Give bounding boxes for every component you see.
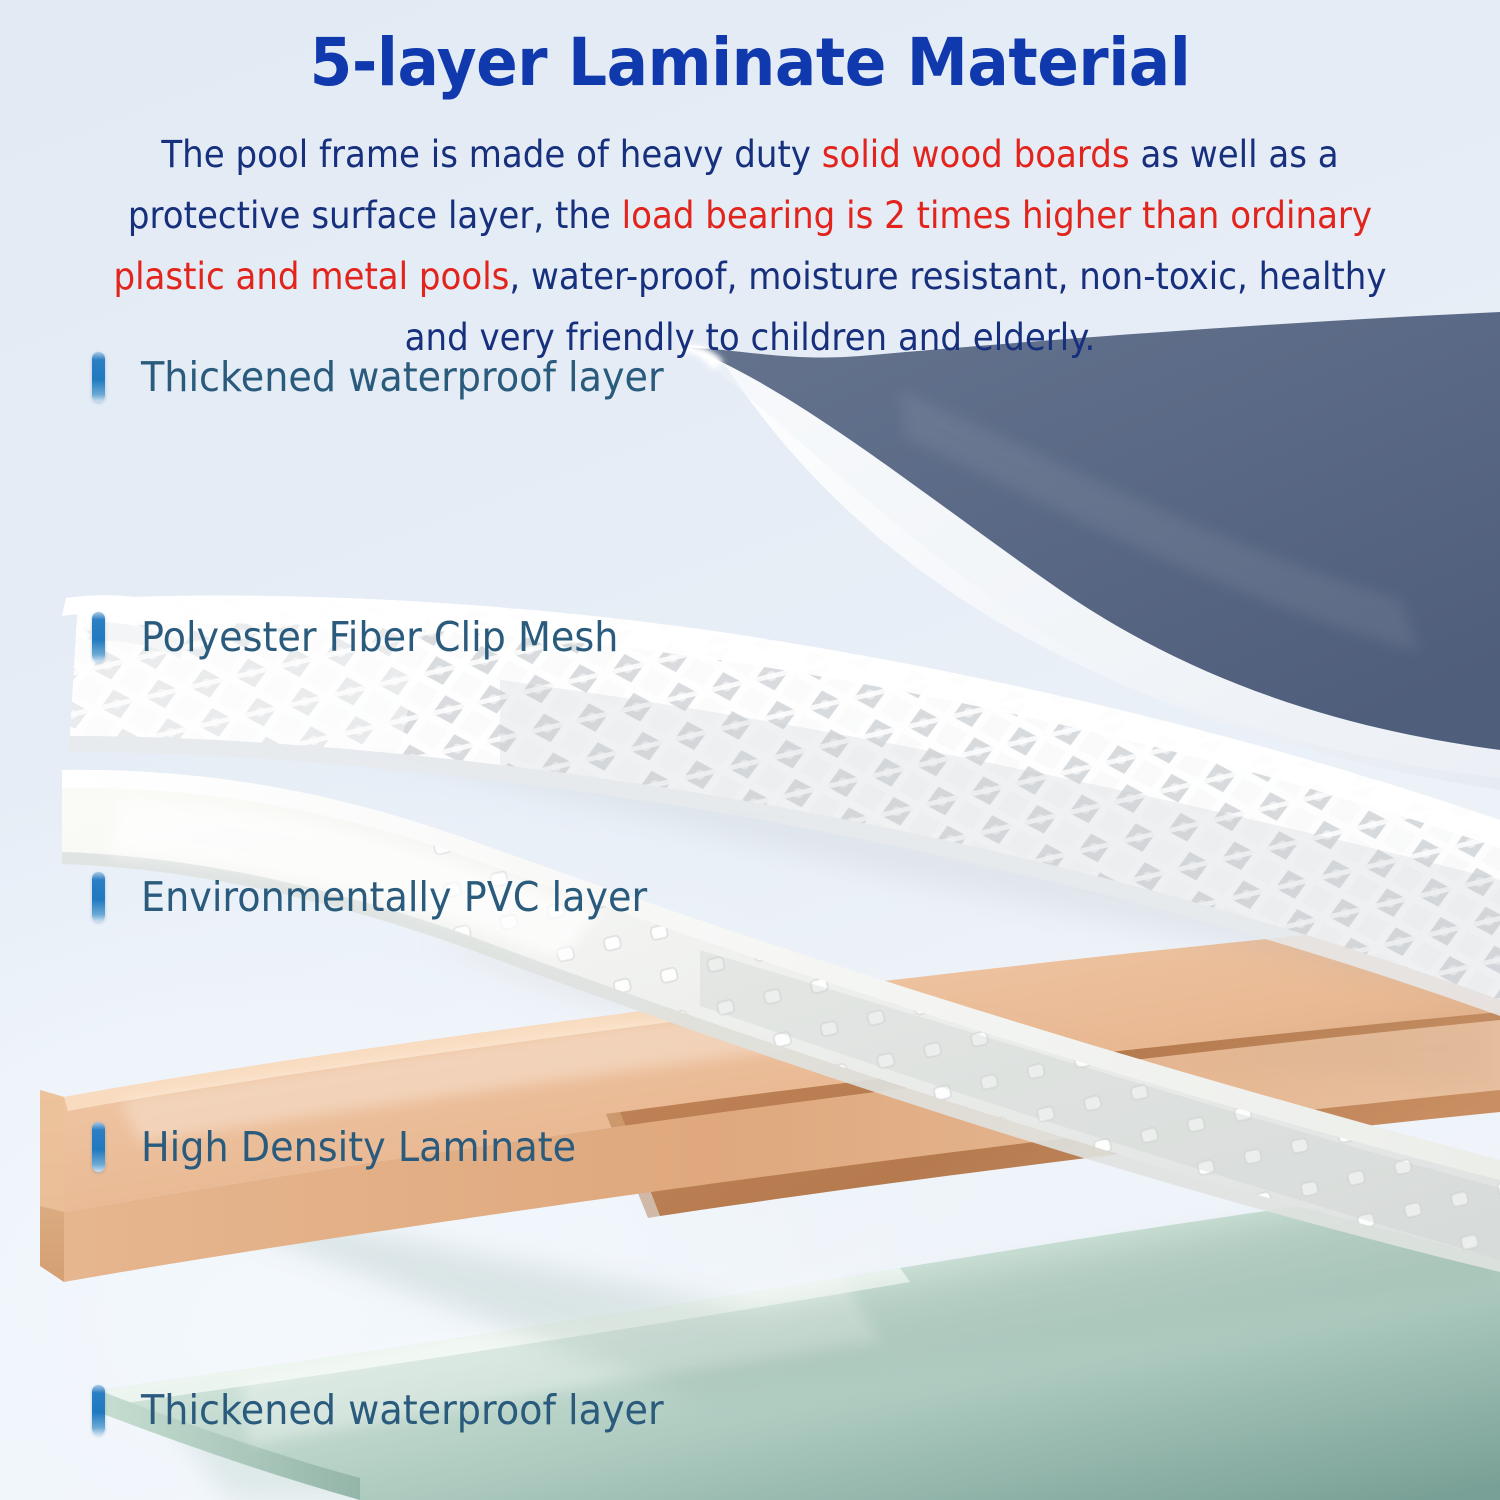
layer-label-thickened-waterproof-top: Thickened waterproof layer xyxy=(92,352,703,402)
bullet-bar-icon xyxy=(92,1122,105,1172)
layer-label-text: Thickened waterproof layer xyxy=(141,353,664,401)
layer-label-text: Thickened waterproof layer xyxy=(141,1386,664,1434)
layer-label-environmentally-pvc: Environmentally PVC layer xyxy=(92,872,685,922)
page-title: 5-layer Laminate Material xyxy=(53,24,1448,101)
paragraph-seg-1-highlight: solid wood boards xyxy=(822,133,1130,176)
layer-label-text: Polyester Fiber Clip Mesh xyxy=(141,613,618,661)
intro-paragraph: The pool frame is made of heavy duty sol… xyxy=(97,124,1403,368)
layer-label-polyester-fiber-clip-mesh: Polyester Fiber Clip Mesh xyxy=(92,612,654,662)
product-infographic: 5-layer Laminate Material The pool frame… xyxy=(0,0,1500,1500)
bullet-bar-icon xyxy=(92,612,105,662)
bullet-bar-icon xyxy=(92,1385,105,1435)
layer-label-thickened-waterproof-bottom: Thickened waterproof layer xyxy=(92,1385,703,1435)
paragraph-seg-0: The pool frame is made of heavy duty xyxy=(161,133,821,176)
bullet-bar-icon xyxy=(92,872,105,922)
layer-label-high-density-laminate: High Density Laminate xyxy=(92,1122,609,1172)
paragraph-seg-4: , water-proof, moisture resistant, non-t… xyxy=(405,255,1387,359)
layer-label-text: High Density Laminate xyxy=(141,1123,576,1171)
bullet-bar-icon xyxy=(92,352,105,402)
layer-label-text: Environmentally PVC layer xyxy=(141,873,647,921)
